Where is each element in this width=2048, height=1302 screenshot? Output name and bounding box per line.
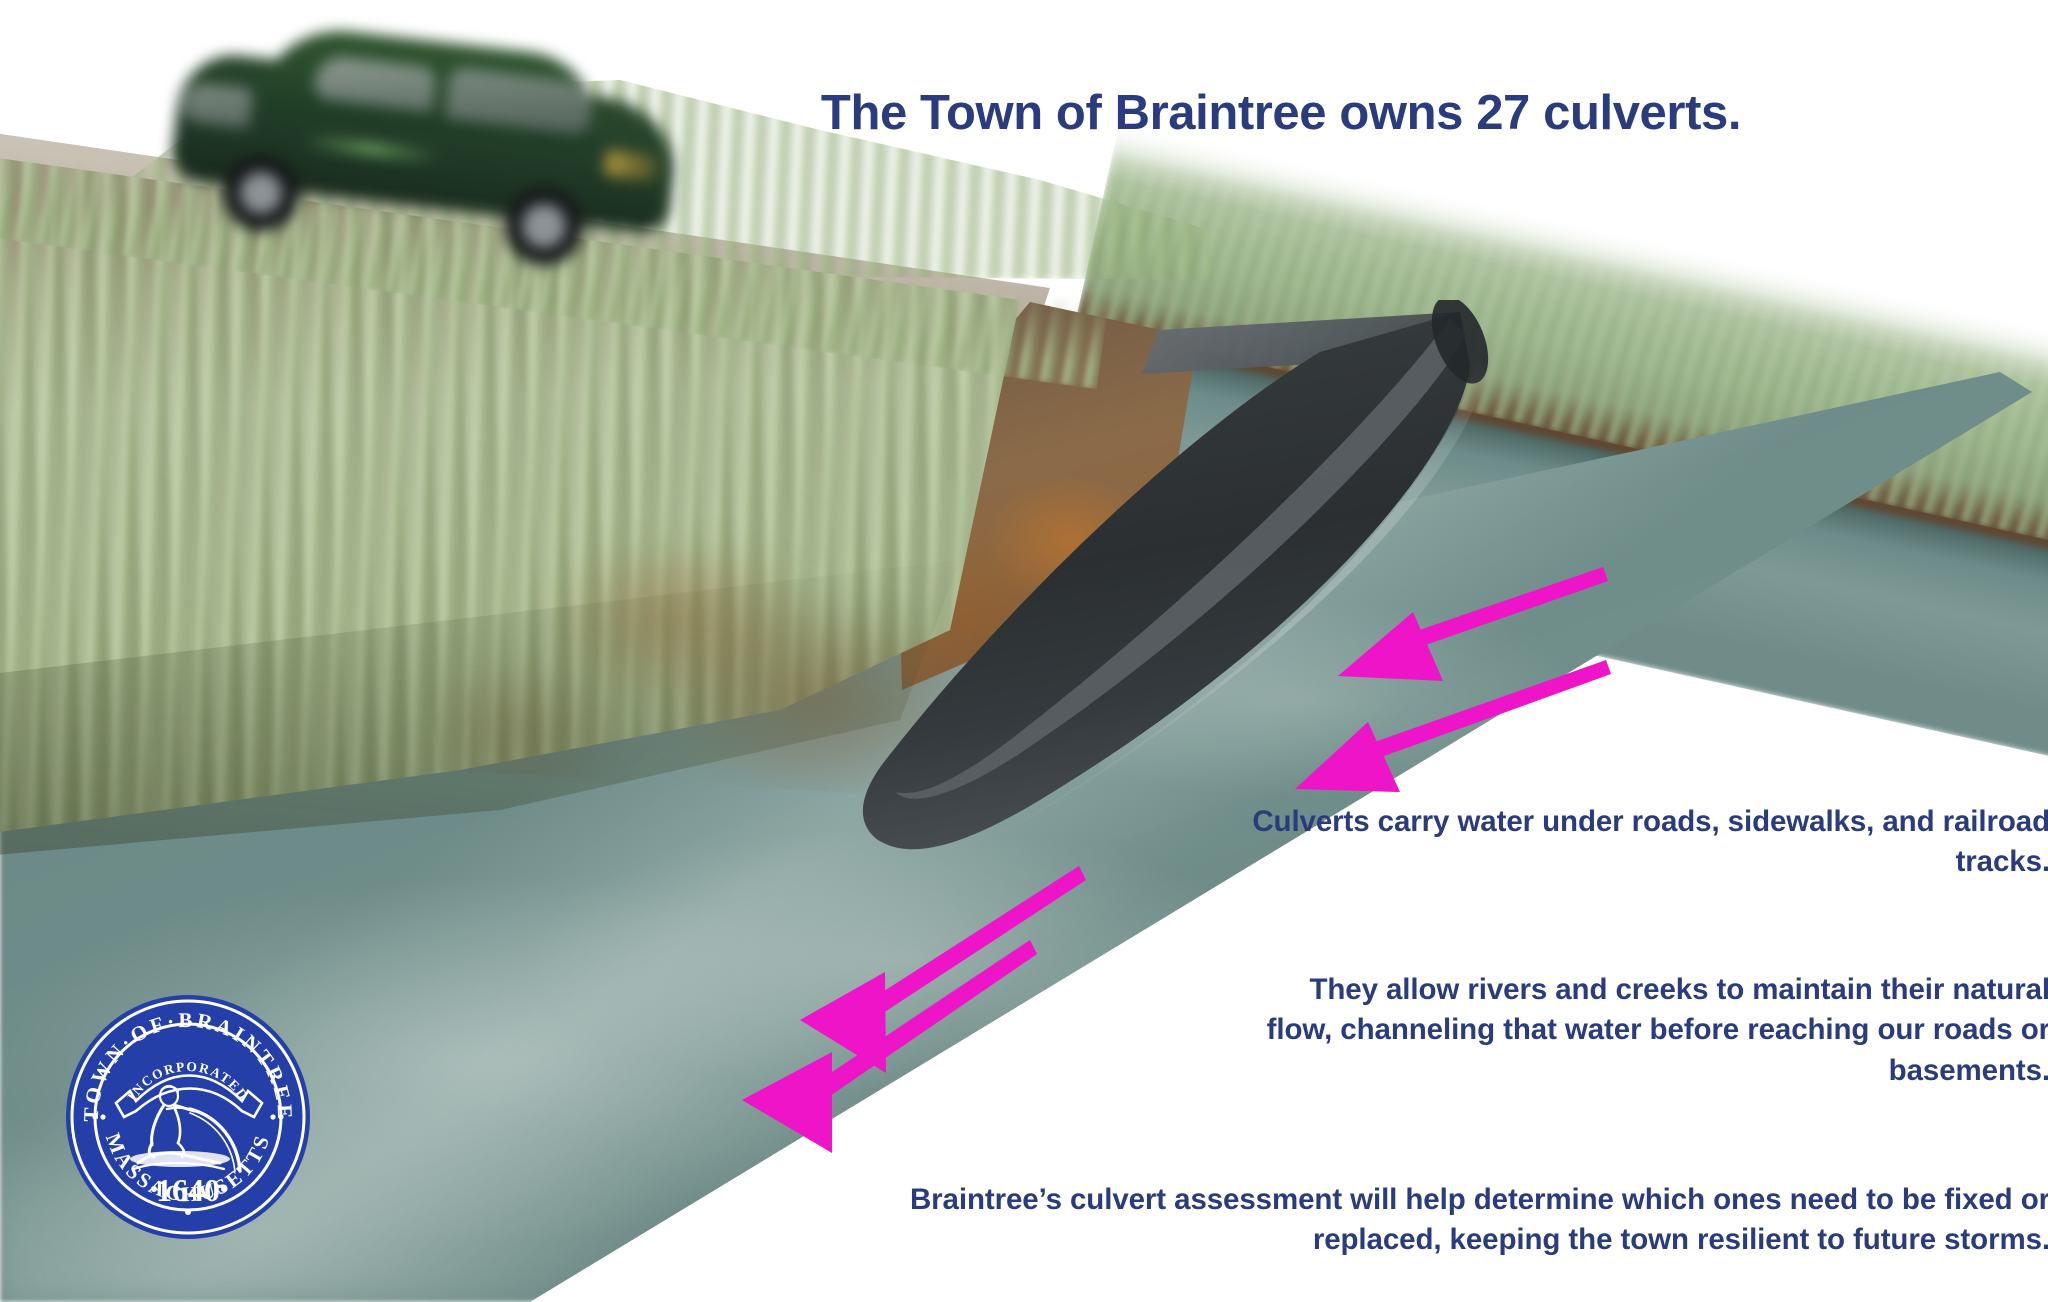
seal-dot xyxy=(185,1209,191,1215)
green-car xyxy=(175,25,715,240)
water-flow-arrow-head xyxy=(1295,722,1400,792)
seal-dot xyxy=(92,1114,97,1119)
page-title: The Town of Braintree owns 27 culverts. xyxy=(706,87,1856,141)
seal-dot xyxy=(278,1114,283,1119)
seal-dot xyxy=(221,1186,227,1192)
water-flow-arrow-head xyxy=(742,1052,832,1153)
seal-dot xyxy=(270,1114,275,1119)
town-of-braintree-seal: TOWN·OF·BRAINTREE MASSACHUSETTS INCORPOR… xyxy=(64,993,312,1241)
car-front-wheel xyxy=(223,155,299,231)
water-flow-arrow-head xyxy=(1338,612,1443,681)
body-paragraph-3: Braintree’s culvert assessment will help… xyxy=(820,1180,2048,1261)
seal-ground-mound xyxy=(130,1151,230,1167)
seal-dot xyxy=(100,1114,105,1119)
body-paragraph-2: They allow rivers and creeks to maintain… xyxy=(1240,970,2048,1092)
car-rear-wheel xyxy=(505,187,583,265)
seal-year: 1640 xyxy=(156,1172,220,1208)
body-paragraph-1: Culverts carry water under roads, sidewa… xyxy=(1240,802,2048,883)
